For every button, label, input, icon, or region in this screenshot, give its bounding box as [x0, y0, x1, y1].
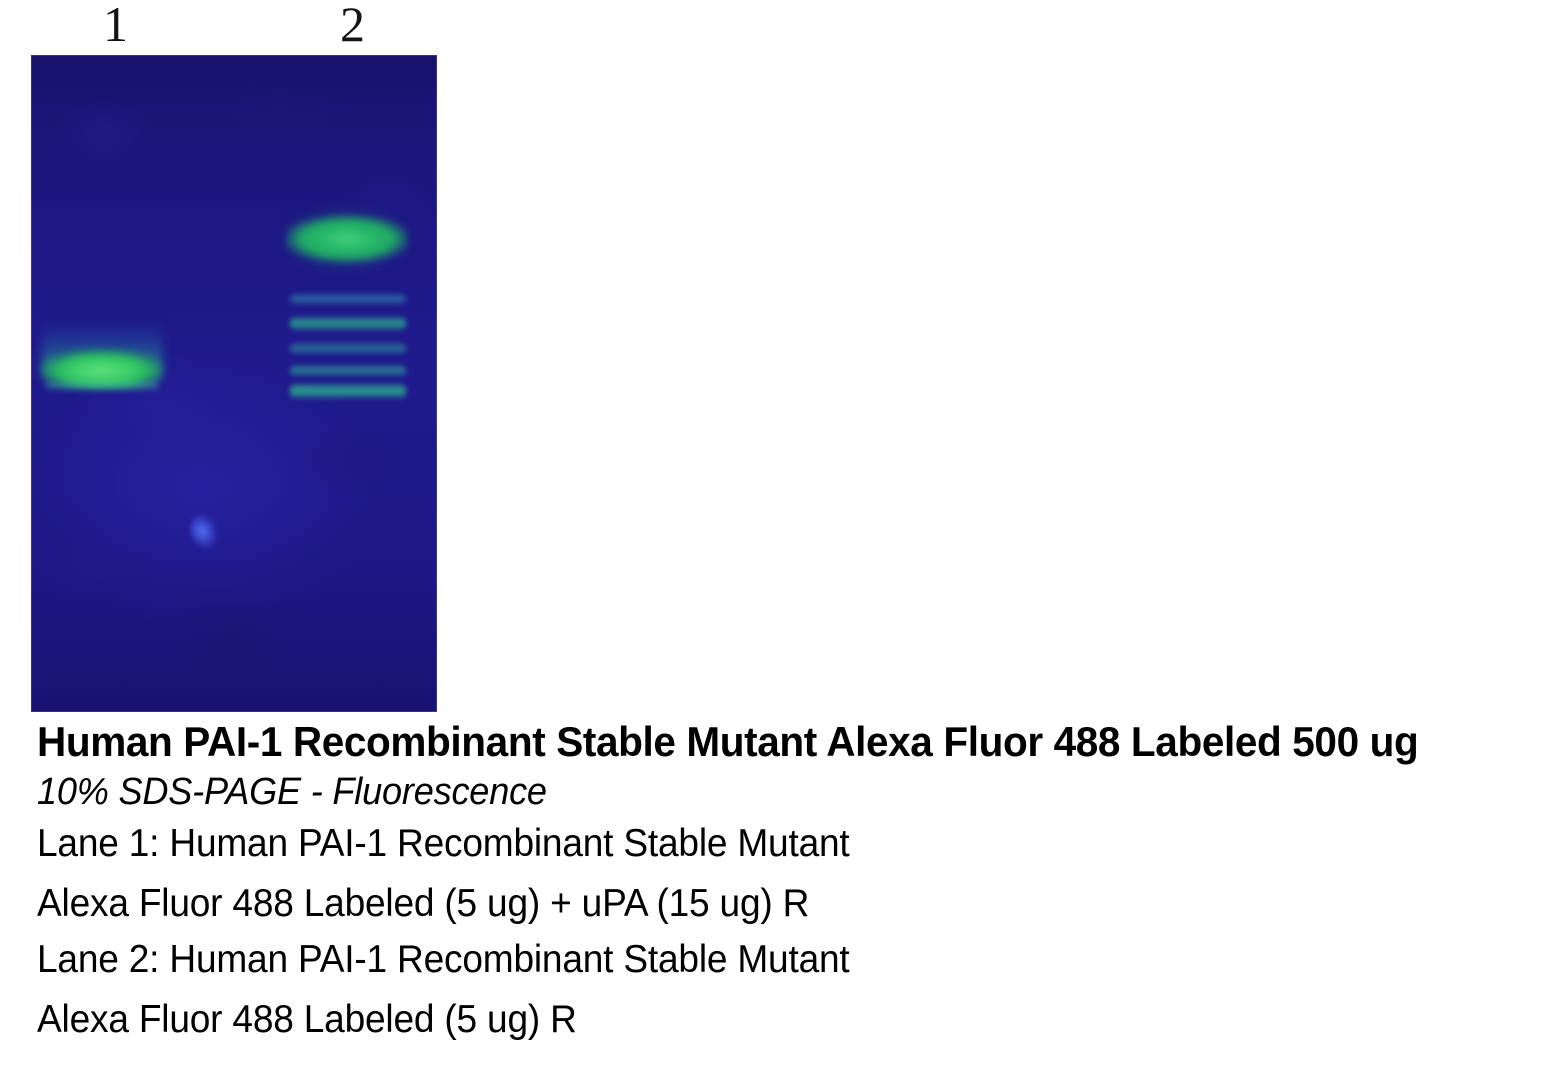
- lane-2-band-top-halo: [281, 203, 411, 269]
- lane-1-description-line-2: Alexa Fluor 488 Labeled (5 ug) + uPA (15…: [37, 876, 1472, 932]
- figure-title: Human PAI-1 Recombinant Stable Mutant Al…: [37, 718, 1494, 766]
- gel-background-texture: [31, 55, 437, 712]
- lane-1-band-smear: [42, 323, 162, 377]
- sds-page-gel-image: [31, 55, 437, 712]
- lane-1-description-line-1: Lane 1: Human PAI-1 Recombinant Stable M…: [37, 816, 1472, 872]
- figure-subtitle: 10% SDS-PAGE - Fluorescence: [37, 768, 1472, 816]
- lane-number-2: 2: [322, 0, 382, 50]
- lane-2-ladder-band-2: [290, 317, 406, 330]
- lane-2-description-line-1: Lane 2: Human PAI-1 Recombinant Stable M…: [37, 932, 1472, 988]
- lane-2-ladder-band-5: [290, 384, 406, 398]
- figure-caption-block: Human PAI-1 Recombinant Stable Mutant Al…: [37, 718, 1547, 1048]
- lane-2-ladder-band-1: [290, 294, 406, 304]
- lane-1-band-main: [42, 343, 162, 389]
- lane-2-ladder-band-4: [290, 365, 406, 376]
- lane-2-band-main: [286, 213, 408, 263]
- lane-number-1: 1: [85, 0, 145, 50]
- lane-2-description-line-2: Alexa Fluor 488 Labeled (5 ug) R: [37, 992, 1472, 1048]
- gel-figure-panel: 1 2: [0, 0, 470, 715]
- gel-artifact-speck: [185, 511, 224, 553]
- lane-1-band-undersmear: [45, 382, 159, 392]
- lane-2-ladder-band-3: [290, 343, 406, 354]
